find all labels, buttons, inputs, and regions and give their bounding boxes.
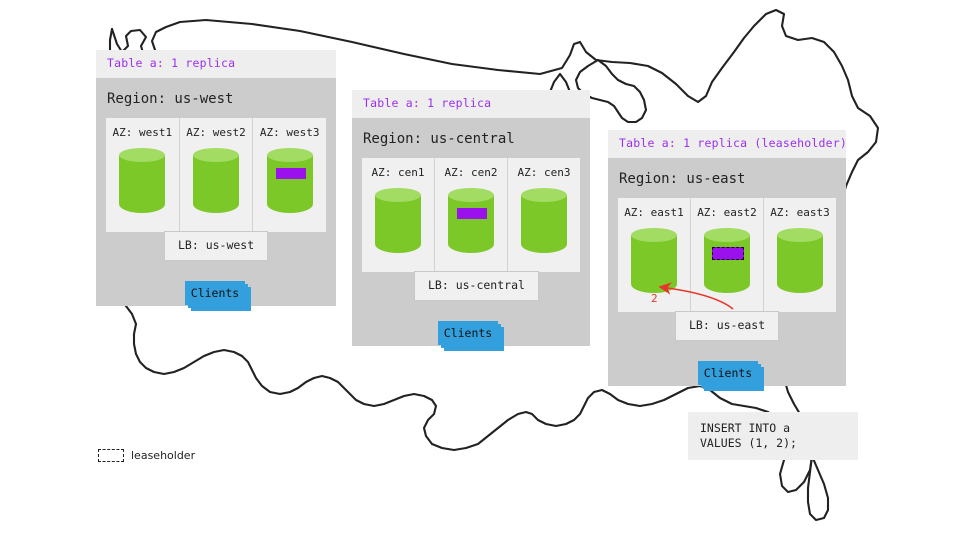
clients-stack-us-east[interactable]: Clients <box>698 361 758 385</box>
az-row: AZ: cen1 AZ: cen2 AZ: cen3 <box>362 158 580 272</box>
az-label: AZ: cen2 <box>445 167 498 178</box>
region-body: Region: us-east AZ: east1 AZ: east2 <box>608 158 846 386</box>
database-cylinder-icon[interactable] <box>375 188 421 260</box>
region-panel-us-east: Table a: 1 replica (leaseholder) Region:… <box>608 130 846 386</box>
az-label: AZ: cen1 <box>372 167 425 178</box>
database-cylinder-icon[interactable] <box>521 188 567 260</box>
region-replica-title: Table a: 1 replica <box>352 90 590 118</box>
database-cylinder-icon[interactable] <box>267 148 313 220</box>
az-label: AZ: cen3 <box>518 167 571 178</box>
database-cylinder-icon[interactable] <box>777 228 823 300</box>
replica-marker <box>276 168 306 179</box>
region-body: Region: us-west AZ: west1 AZ: west2 AZ: … <box>96 78 336 306</box>
az-label: AZ: east3 <box>770 207 830 218</box>
clients-label[interactable]: Clients <box>698 361 758 385</box>
load-balancer-box-us-central[interactable]: LB: us-central <box>414 271 539 301</box>
region-body: Region: us-central AZ: cen1 AZ: cen2 <box>352 118 590 346</box>
az-cell-west2[interactable]: AZ: west2 <box>179 118 253 232</box>
region-panel-us-central: Table a: 1 replica Region: us-central AZ… <box>352 90 590 346</box>
region-panel-us-west: Table a: 1 replica Region: us-west AZ: w… <box>96 50 336 306</box>
az-cell-cen3[interactable]: AZ: cen3 <box>507 158 580 272</box>
sql-statement-box: INSERT INTO a VALUES (1, 2); <box>688 412 858 460</box>
dashed-rect-icon <box>98 449 124 462</box>
replica-marker <box>457 208 487 219</box>
az-label: AZ: west2 <box>186 127 246 138</box>
region-name: Region: us-west <box>106 78 326 118</box>
clients-label[interactable]: Clients <box>438 321 498 345</box>
region-replica-title: Table a: 1 replica (leaseholder) <box>608 130 846 158</box>
az-label: AZ: west1 <box>113 127 173 138</box>
region-name: Region: us-east <box>618 158 836 198</box>
az-cell-west3[interactable]: AZ: west3 <box>252 118 326 232</box>
legend-label: leaseholder <box>131 449 195 462</box>
az-cell-cen1[interactable]: AZ: cen1 <box>362 158 434 272</box>
load-balancer-box-us-west[interactable]: LB: us-west <box>164 231 268 261</box>
az-cell-east3[interactable]: AZ: east3 <box>763 198 836 312</box>
region-replica-title: Table a: 1 replica <box>96 50 336 78</box>
az-row: AZ: west1 AZ: west2 AZ: west3 <box>106 118 326 232</box>
leaseholder-replica-marker <box>712 247 744 260</box>
diagram-canvas: Table a: 1 replica Region: us-west AZ: w… <box>0 0 960 540</box>
az-cell-cen2[interactable]: AZ: cen2 <box>434 158 507 272</box>
arrow-step-number: 2 <box>651 293 658 304</box>
az-cell-west1[interactable]: AZ: west1 <box>106 118 179 232</box>
az-label: AZ: east2 <box>697 207 757 218</box>
database-cylinder-icon[interactable] <box>704 228 750 300</box>
load-balancer-box-us-east[interactable]: LB: us-east <box>675 311 779 341</box>
clients-label[interactable]: Clients <box>185 281 245 305</box>
database-cylinder-icon[interactable] <box>448 188 494 260</box>
database-cylinder-icon[interactable] <box>119 148 165 220</box>
legend-leaseholder: leaseholder <box>98 449 195 462</box>
clients-stack-us-west[interactable]: Clients <box>185 281 245 305</box>
az-label: AZ: east1 <box>624 207 684 218</box>
clients-stack-us-central[interactable]: Clients <box>438 321 498 345</box>
region-name: Region: us-central <box>362 118 580 158</box>
az-label: AZ: west3 <box>260 127 320 138</box>
database-cylinder-icon[interactable] <box>193 148 239 220</box>
az-cell-east2[interactable]: AZ: east2 <box>690 198 763 312</box>
database-cylinder-icon[interactable] <box>631 228 677 300</box>
